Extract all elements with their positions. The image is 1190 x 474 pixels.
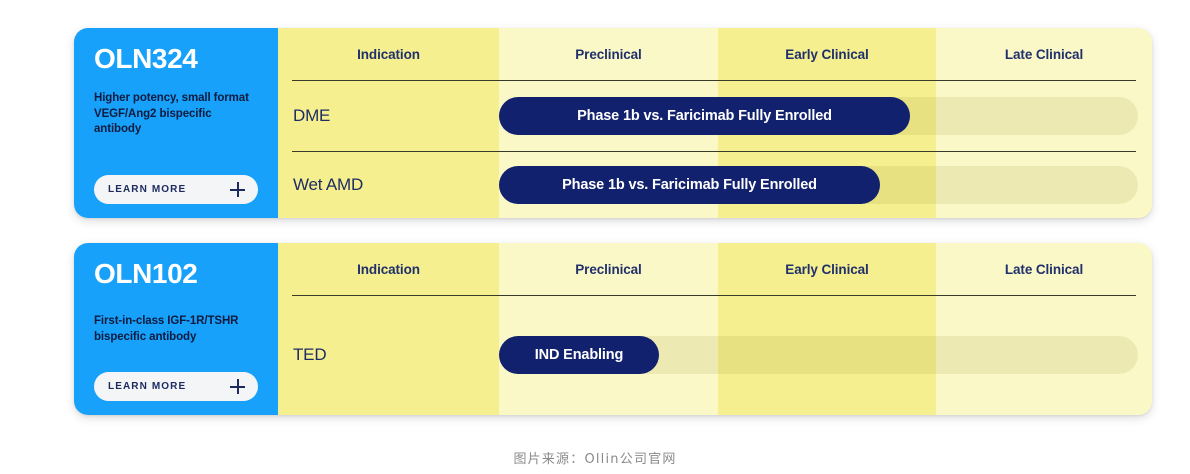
- plus-icon: [230, 379, 245, 394]
- plus-icon: [230, 182, 245, 197]
- status-pill[interactable]: Phase 1b vs. Faricimab Fully Enrolled: [499, 166, 880, 204]
- indication-label: DME: [278, 106, 499, 126]
- grid-header-row: Indication Preclinical Early Clinical La…: [278, 243, 1152, 295]
- pipeline-grid: Indication Preclinical Early Clinical La…: [278, 243, 1152, 415]
- column-header-indication: Indication: [278, 28, 499, 80]
- phase-track-container: Phase 1b vs. Faricimab Fully Enrolled: [499, 80, 1152, 151]
- program-side-panel: OLN324 Higher potency, small format VEGF…: [74, 28, 278, 218]
- program-title: OLN324: [94, 44, 258, 73]
- column-header-late-clinical: Late Clinical: [936, 28, 1152, 80]
- indication-label: TED: [278, 345, 499, 365]
- grid-header-row: Indication Preclinical Early Clinical La…: [278, 28, 1152, 80]
- table-row: TED IND Enabling: [278, 295, 1152, 415]
- status-pill[interactable]: IND Enabling: [499, 336, 659, 374]
- learn-more-label: LEARN MORE: [108, 381, 186, 392]
- pipeline-card-oln102: OLN102 First-in-class IGF-1R/TSHR bispec…: [74, 243, 1152, 415]
- program-description: First-in-class IGF-1R/TSHR bispecific an…: [94, 314, 258, 345]
- indication-label: Wet AMD: [278, 175, 499, 195]
- learn-more-label: LEARN MORE: [108, 184, 186, 195]
- phase-track-container: Phase 1b vs. Faricimab Fully Enrolled: [499, 151, 1152, 218]
- table-row: Wet AMD Phase 1b vs. Faricimab Fully Enr…: [278, 151, 1152, 218]
- pipeline-card-oln324: OLN324 Higher potency, small format VEGF…: [74, 28, 1152, 218]
- program-description: Higher potency, small format VEGF/Ang2 b…: [94, 91, 258, 138]
- table-row: DME Phase 1b vs. Faricimab Fully Enrolle…: [278, 80, 1152, 151]
- column-header-late-clinical: Late Clinical: [936, 243, 1152, 295]
- column-header-early-clinical: Early Clinical: [718, 28, 936, 80]
- program-title: OLN102: [94, 259, 258, 288]
- column-header-preclinical: Preclinical: [499, 243, 718, 295]
- program-side-panel: OLN102 First-in-class IGF-1R/TSHR bispec…: [74, 243, 278, 415]
- source-caption: 图片来源：Ollin公司官网: [0, 448, 1190, 467]
- status-pill[interactable]: Phase 1b vs. Faricimab Fully Enrolled: [499, 97, 910, 135]
- learn-more-button[interactable]: LEARN MORE: [94, 175, 258, 204]
- pipeline-figure: OLN324 Higher potency, small format VEGF…: [0, 0, 1190, 474]
- column-header-preclinical: Preclinical: [499, 28, 718, 80]
- phase-track-container: IND Enabling: [499, 295, 1152, 415]
- column-header-indication: Indication: [278, 243, 499, 295]
- column-header-early-clinical: Early Clinical: [718, 243, 936, 295]
- pipeline-grid: Indication Preclinical Early Clinical La…: [278, 28, 1152, 218]
- learn-more-button[interactable]: LEARN MORE: [94, 372, 258, 401]
